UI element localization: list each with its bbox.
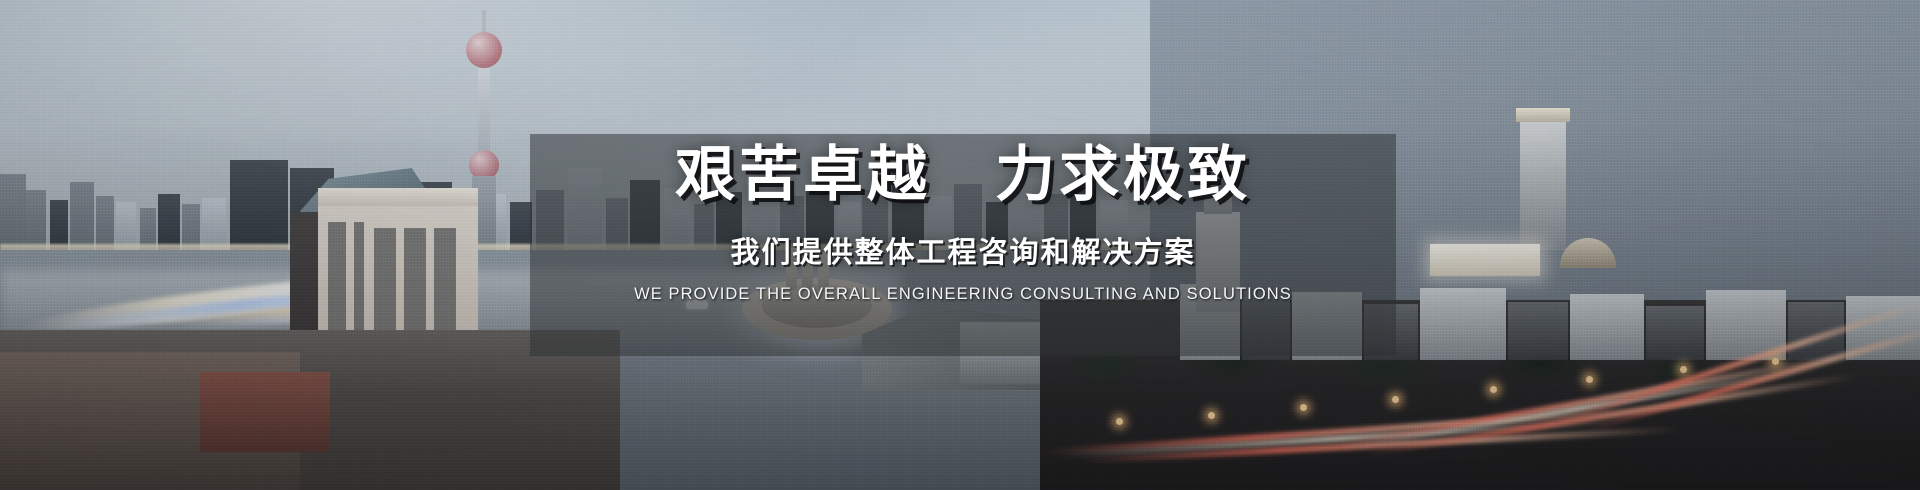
text-overlay-panel: 艰苦卓越 力求极致 我们提供整体工程咨询和解决方案 WE PROVIDE THE… — [530, 134, 1396, 356]
banner-headline: 艰苦卓越 力求极致 — [675, 140, 1251, 211]
banner-subtitle-chinese: 我们提供整体工程咨询和解决方案 — [730, 229, 1195, 271]
hero-banner: 艰苦卓越 力求极致 我们提供整体工程咨询和解决方案 WE PROVIDE THE… — [0, 0, 1920, 490]
banner-subtitle-english: WE PROVIDE THE OVERALL ENGINEERING CONSU… — [634, 285, 1292, 304]
